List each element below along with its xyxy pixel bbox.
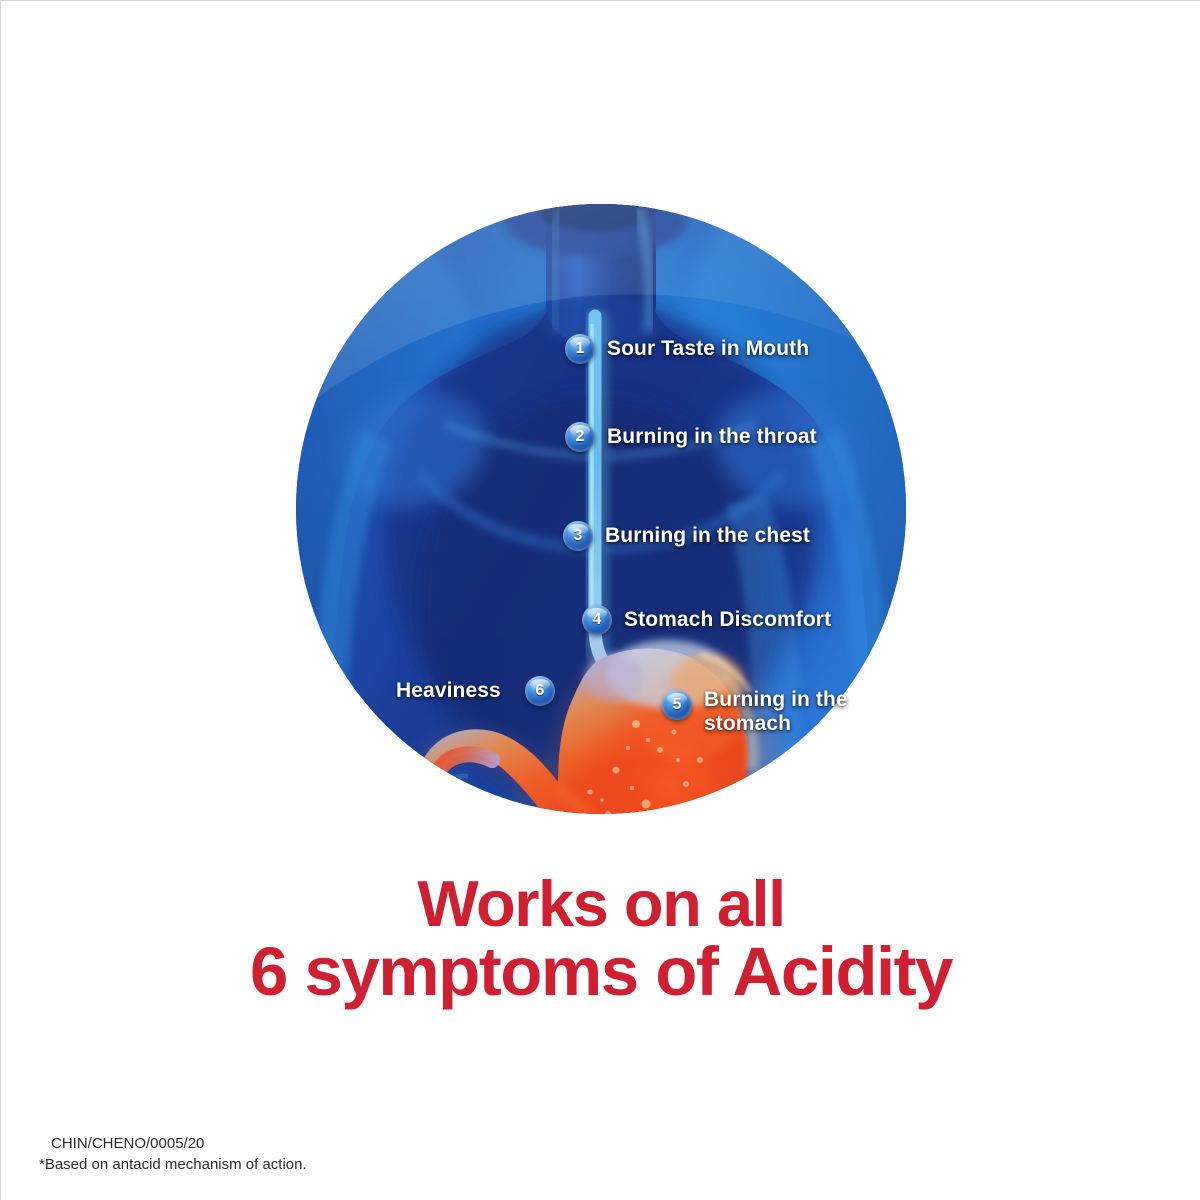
symptom-badge-3: 3	[563, 521, 593, 551]
symptom-label-6: Heaviness	[396, 679, 501, 703]
symptom-callout-3: 3 Burning in the chest	[563, 521, 810, 551]
symptom-badge-1: 1	[565, 334, 595, 364]
symptom-label-2: Burning in the throat	[607, 425, 817, 449]
symptom-badge-6: 6	[525, 676, 555, 706]
symptom-callout-5: 5 Burning in the stomach	[662, 688, 848, 736]
symptom-badge-5: 5	[662, 690, 692, 720]
symptom-badge-4: 4	[582, 605, 612, 635]
symptom-label-1: Sour Taste in Mouth	[607, 337, 809, 361]
footnote-code: CHIN/CHENO/0005/20	[39, 1133, 307, 1154]
footnote-note: *Based on antacid mechanism of action.	[39, 1154, 307, 1175]
symptom-callout-2: 2 Burning in the throat	[565, 422, 817, 452]
symptom-badge-2: 2	[565, 422, 595, 452]
symptom-callout-4: 4 Stomach Discomfort	[582, 605, 831, 635]
symptom-label-3: Burning in the chest	[605, 524, 810, 548]
symptom-callout-1: 1 Sour Taste in Mouth	[565, 334, 809, 364]
symptom-label-5: Burning in the stomach	[704, 688, 848, 736]
headline-line-1: Works on all	[1, 871, 1200, 937]
symptom-label-4: Stomach Discomfort	[624, 608, 831, 632]
headline-line-2: 6 symptoms of Acidity	[1, 937, 1200, 1007]
symptom-callout-6: Heaviness 6	[396, 676, 555, 706]
footnote: CHIN/CHENO/0005/20 *Based on antacid mec…	[39, 1133, 307, 1176]
headline: Works on all 6 symptoms of Acidity	[1, 871, 1200, 1008]
